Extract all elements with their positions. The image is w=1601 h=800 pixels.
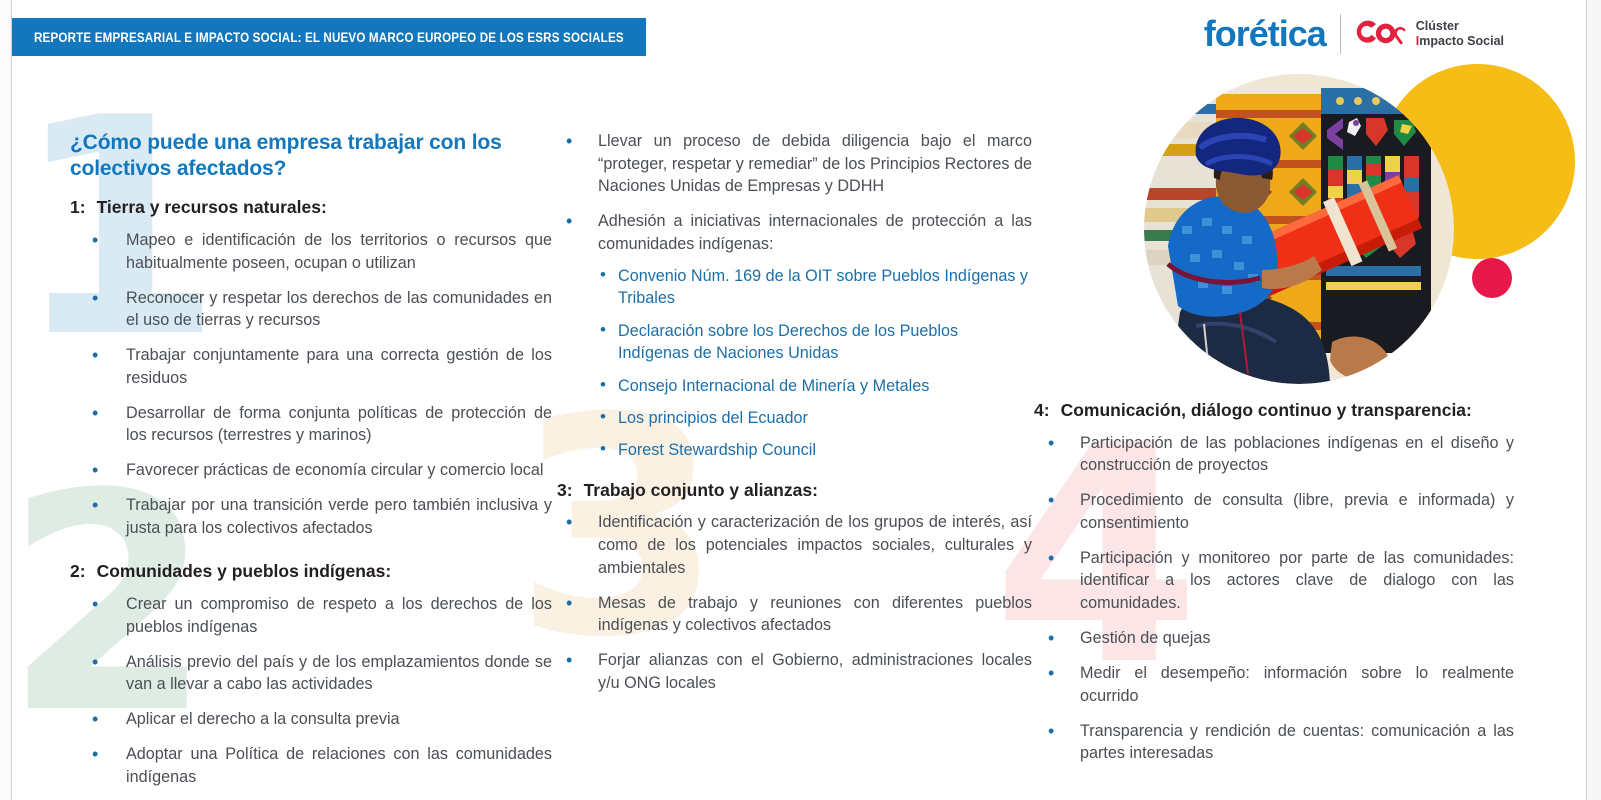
cluster-line-2: Impacto Social xyxy=(1416,34,1504,49)
foretica-logo: forética xyxy=(1204,16,1326,52)
page-gutter-right xyxy=(1586,0,1601,800)
section-4-bullet-list: Participación de las poblaciones indígen… xyxy=(1034,432,1514,765)
link-item[interactable]: Convenio Núm. 169 de la OIT sobre Pueblo… xyxy=(598,265,1032,310)
section-2-title: Comunidades y pueblos indígenas: xyxy=(97,561,392,583)
section-4-number: 4: xyxy=(1034,400,1050,422)
list-item: Desarrollar de forma conjunta políticas … xyxy=(70,402,552,447)
link-item[interactable]: Los principios del Ecuador xyxy=(598,407,1032,429)
list-item: Mesas de trabajo y reuniones con diferen… xyxy=(557,592,1032,637)
list-item: Aplicar el derecho a la consulta previa xyxy=(70,708,552,731)
list-item: Adhesión a iniciativas internacionales d… xyxy=(557,210,1032,462)
page-title: REPORTE EMPRESARIAL E IMPACTO SOCIAL: EL… xyxy=(34,30,624,45)
logo-block: forética Clúster Impacto Social xyxy=(1204,14,1504,54)
list-item: Mapeo e identificación de los territorio… xyxy=(70,229,552,274)
question-heading: ¿Cómo puede una empresa trabajar con los… xyxy=(70,130,552,181)
cluster-line-2-text: mpacto Social xyxy=(1419,34,1504,48)
list-item: Crear un compromiso de respeto a los der… xyxy=(70,593,552,638)
document-page: 1 2 3 4 REPORTE EMPRESARIAL E IMPACTO SO… xyxy=(11,0,1587,800)
list-item: Favorecer prácticas de economía circular… xyxy=(70,459,552,482)
column-3: 4: Comunicación, diálogo continuo y tran… xyxy=(1034,400,1514,777)
pdf-viewer: 1 2 3 4 REPORTE EMPRESARIAL E IMPACTO SO… xyxy=(0,0,1601,800)
logo-divider xyxy=(1340,14,1341,54)
artwork-composition xyxy=(1102,62,1552,402)
weaver-photo-illustration xyxy=(1144,74,1454,384)
section-2-heading: 2: Comunidades y pueblos indígenas: xyxy=(70,561,552,583)
list-item: Análisis previo del país y de los emplaz… xyxy=(70,651,552,696)
cluster-text: Clúster Impacto Social xyxy=(1416,19,1504,50)
list-item: Transparencia y rendición de cuentas: co… xyxy=(1034,720,1514,765)
cluster-cis-mark-icon xyxy=(1355,19,1407,49)
list-item: Participación de las poblaciones indígen… xyxy=(1034,432,1514,477)
link-item[interactable]: Forest Stewardship Council xyxy=(598,439,1032,461)
section-1-number: 1: xyxy=(70,197,86,219)
section-3-title: Trabajo conjunto y alianzas: xyxy=(584,480,818,502)
list-item: Adoptar una Política de relaciones con l… xyxy=(70,743,552,788)
list-item: Trabajar por una transición verde pero t… xyxy=(70,494,552,539)
column-2: Llevar un proceso de debida diligencia b… xyxy=(557,130,1032,707)
link-item[interactable]: Consejo Internacional de Minería y Metal… xyxy=(598,375,1032,397)
weaver-photo xyxy=(1144,74,1454,384)
section-2-sub-bullet-list: Convenio Núm. 169 de la OIT sobre Pueblo… xyxy=(598,265,1032,462)
list-item: Forjar alianzas con el Gobierno, adminis… xyxy=(557,649,1032,694)
cluster-impacto-social-logo: Clúster Impacto Social xyxy=(1355,19,1504,50)
list-item: Identificación y caracterización de los … xyxy=(557,511,1032,579)
list-item: Gestión de quejas xyxy=(1034,627,1514,650)
list-item: Trabajar conjuntamente para una correcta… xyxy=(70,344,552,389)
section-3-bullet-list: Identificación y caracterización de los … xyxy=(557,511,1032,694)
section-1-bullet-list: Mapeo e identificación de los territorio… xyxy=(70,229,552,539)
section-3-number: 3: xyxy=(557,480,573,502)
list-item: Participación y monitoreo por parte de l… xyxy=(1034,547,1514,615)
column-1: ¿Cómo puede una empresa trabajar con los… xyxy=(70,130,552,800)
section-4-title: Comunicación, diálogo continuo y transpa… xyxy=(1061,400,1472,422)
section-1-title: Tierra y recursos naturales: xyxy=(97,197,327,219)
section-4-heading: 4: Comunicación, diálogo continuo y tran… xyxy=(1034,400,1514,422)
page-gutter-left xyxy=(0,0,11,800)
document-title-bar: REPORTE EMPRESARIAL E IMPACTO SOCIAL: EL… xyxy=(12,18,646,56)
red-dot-shape xyxy=(1472,258,1512,298)
section-1-heading: 1: Tierra y recursos naturales: xyxy=(70,197,552,219)
list-item: Reconocer y respetar los derechos de las… xyxy=(70,287,552,332)
list-item-text: Adhesión a iniciativas internacionales d… xyxy=(598,212,1032,253)
section-2-bullet-list: Crear un compromiso de respeto a los der… xyxy=(70,593,552,788)
section-3-heading: 3: Trabajo conjunto y alianzas: xyxy=(557,480,1032,502)
section-2-number: 2: xyxy=(70,561,86,583)
list-item: Medir el desempeño: información sobre lo… xyxy=(1034,662,1514,707)
section-2-bullet-list-continued: Llevar un proceso de debida diligencia b… xyxy=(557,130,1032,462)
cluster-line-1: Clúster xyxy=(1416,19,1504,34)
link-item[interactable]: Declaración sobre los Derechos de los Pu… xyxy=(598,320,1032,365)
list-item: Procedimiento de consulta (libre, previa… xyxy=(1034,489,1514,534)
list-item: Llevar un proceso de debida diligencia b… xyxy=(557,130,1032,198)
